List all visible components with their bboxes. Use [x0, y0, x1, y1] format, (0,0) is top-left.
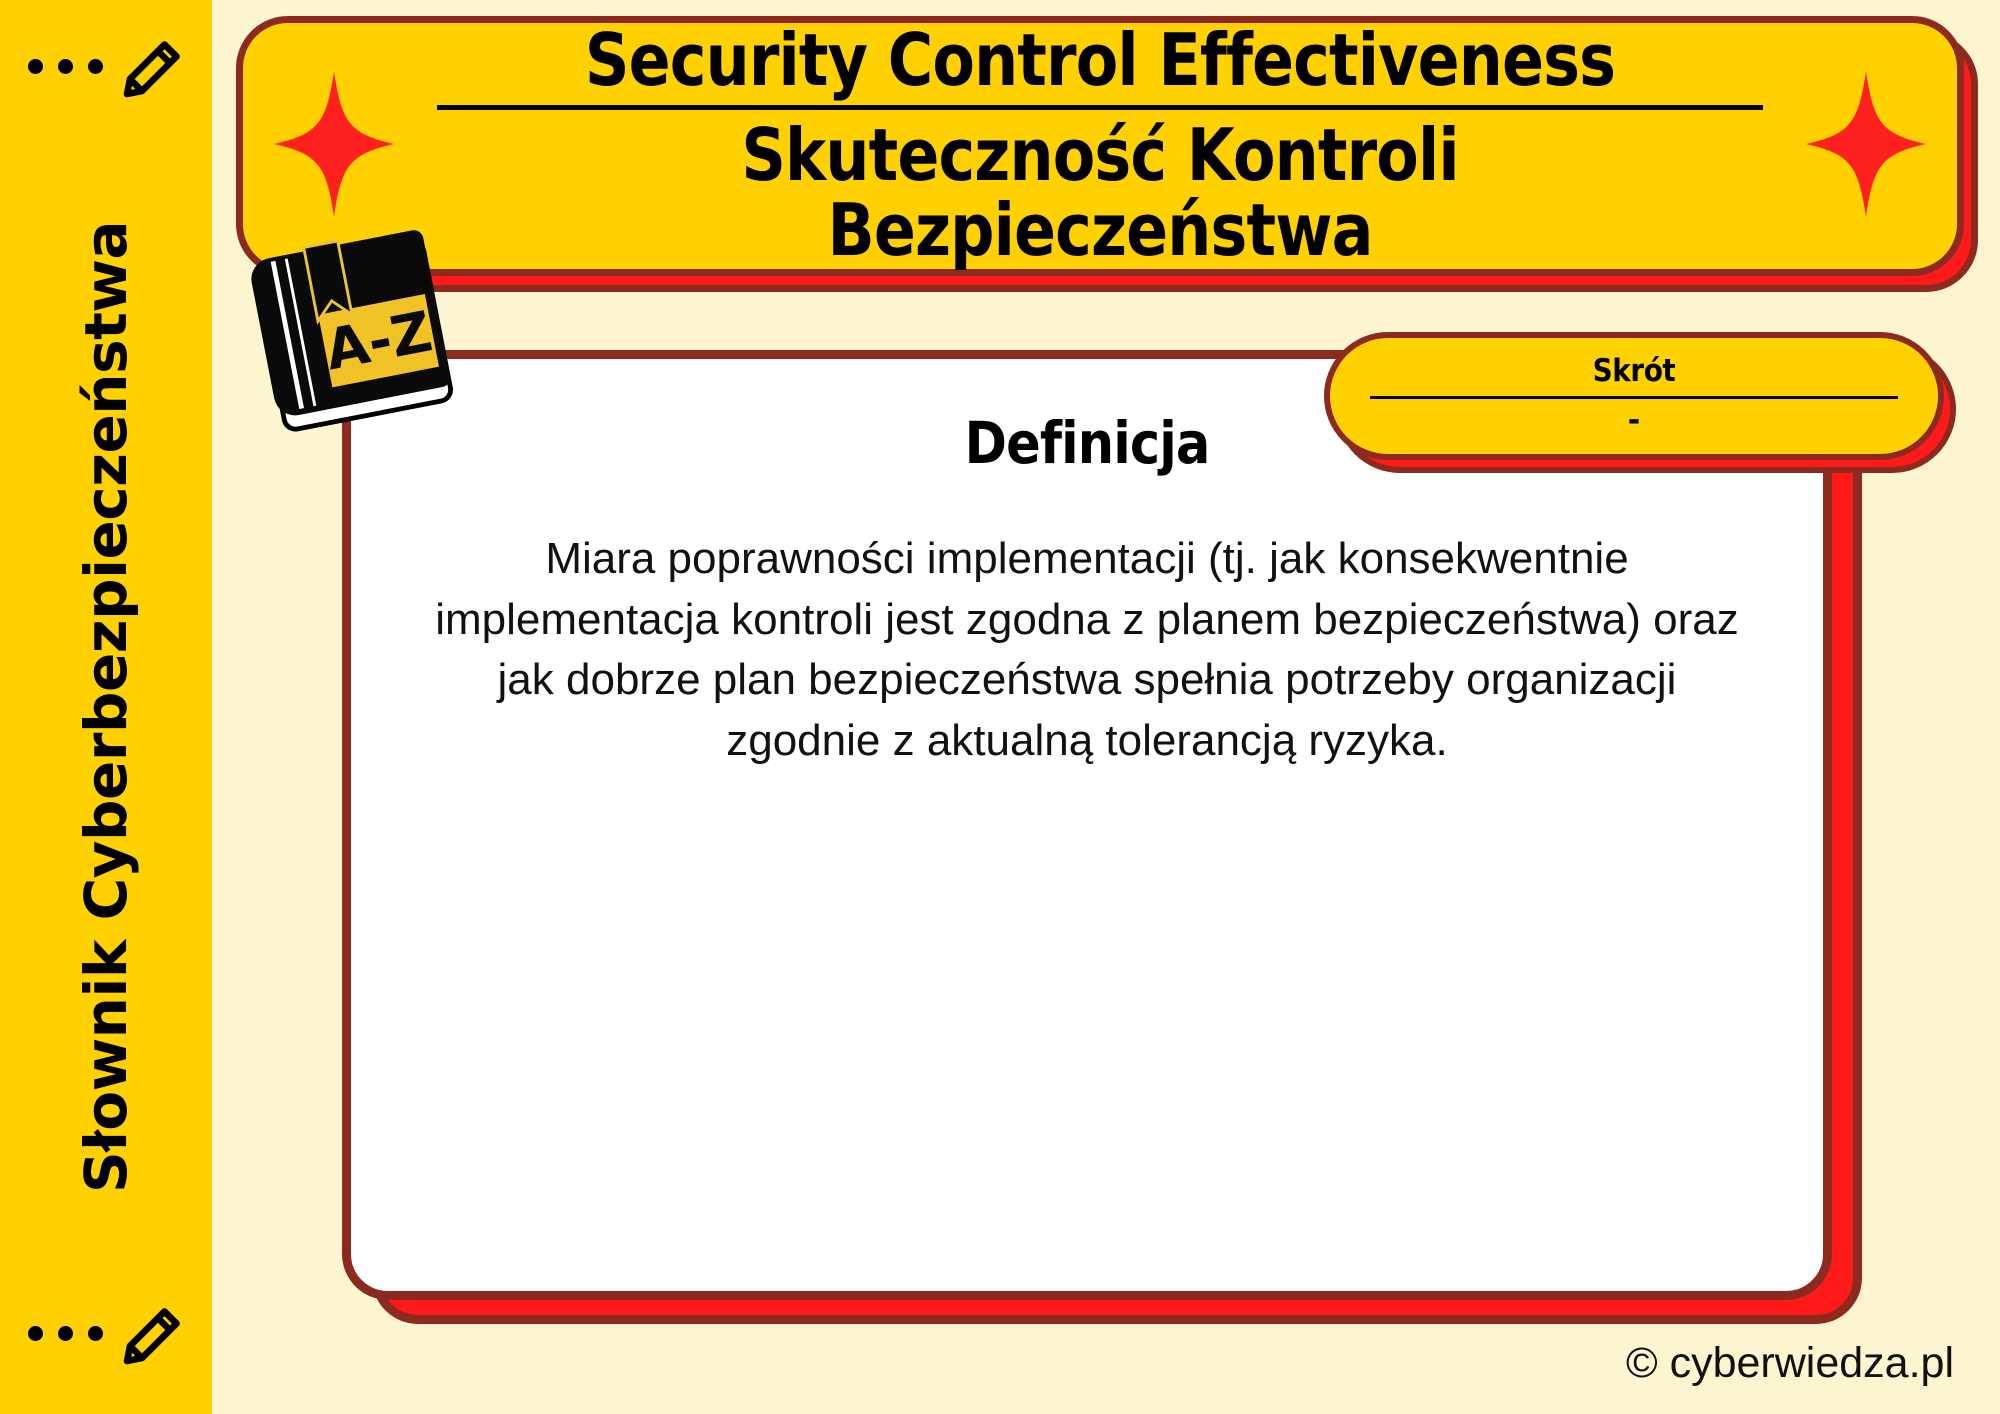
- header-banner-container: Security Control Effectiveness Skuteczno…: [236, 16, 1964, 276]
- footer-copyright: © cyberwiedza.pl: [1626, 1339, 1954, 1388]
- dictionary-book-icon: A-Z: [228, 205, 478, 455]
- ellipsis-dots-icon: [28, 1326, 103, 1347]
- abbreviation-value: -: [1368, 406, 1900, 436]
- abbreviation-label: Skrót: [1395, 356, 1874, 387]
- abbreviation-divider: [1370, 396, 1898, 399]
- abbreviation-badge-container: Skrót -: [1324, 332, 1944, 460]
- sidebar: Słownik Cyberbezpieczeństwa: [0, 0, 212, 1414]
- title-divider: [437, 105, 1763, 110]
- page-title-pl: Skuteczność Kontroli Bezpieczeństwa: [501, 118, 1700, 269]
- sidebar-title: Słownik Cyberbezpieczeństwa: [77, 221, 135, 1193]
- sidebar-title-container: Słownik Cyberbezpieczeństwa: [0, 0, 212, 1414]
- definition-card-container: Definicja Miara poprawności implementacj…: [342, 350, 1832, 1300]
- sidebar-bottom-ornament: [28, 1289, 188, 1384]
- definition-text: Miara poprawności implementacji (tj. jak…: [351, 477, 1823, 772]
- header-banner: Security Control Effectiveness Skuteczno…: [236, 16, 1964, 276]
- pencil-icon: [115, 1301, 187, 1373]
- header-titles: Security Control Effectiveness Skuteczno…: [399, 23, 1801, 269]
- abbreviation-badge: Skrót -: [1324, 332, 1944, 460]
- sparkle-star-icon: [269, 69, 399, 224]
- main-content: Security Control Effectiveness Skuteczno…: [212, 0, 2000, 1414]
- page-title-en: Security Control Effectiveness: [501, 23, 1700, 99]
- definition-card: Definicja Miara poprawności implementacj…: [342, 350, 1832, 1300]
- sparkle-star-icon: [1801, 69, 1931, 224]
